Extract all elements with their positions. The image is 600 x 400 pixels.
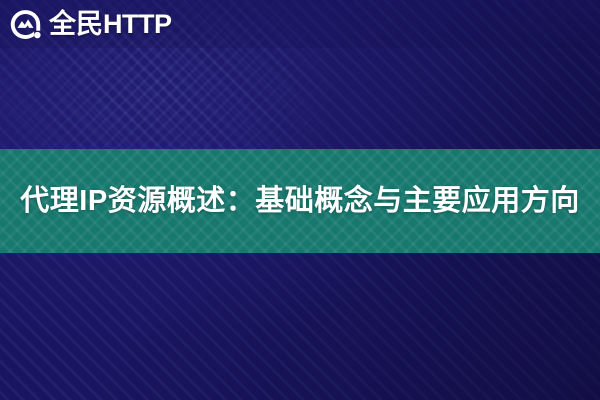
header-strip: 全民HTTP xyxy=(0,0,600,48)
brand-logo-text: 全民HTTP xyxy=(49,8,172,41)
title-band: 代理IP资源概述：基础概念与主要应用方向 xyxy=(0,149,600,253)
brand-logo[interactable]: 全民HTTP xyxy=(9,7,172,41)
brand-logo-text-cn: 全民 xyxy=(49,9,103,39)
promo-banner: 全民HTTP 代理IP资源概述：基础概念与主要应用方向 xyxy=(0,0,600,400)
page-title: 代理IP资源概述：基础概念与主要应用方向 xyxy=(20,182,580,220)
quanmin-http-logo-icon xyxy=(9,8,42,41)
brand-logo-text-latin: HTTP xyxy=(103,9,172,39)
